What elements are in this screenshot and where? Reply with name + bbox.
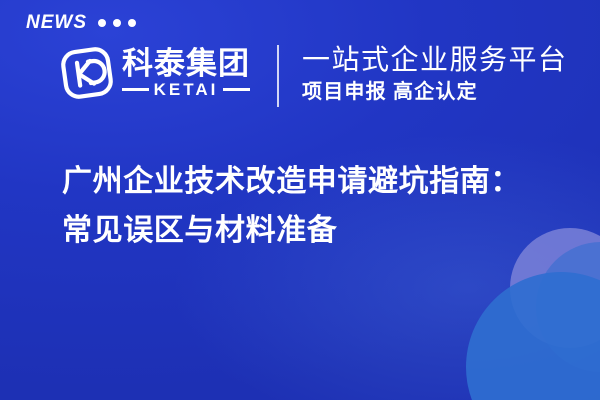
brand-rule-right: [223, 88, 250, 91]
brand-name-cn: 科泰集团: [122, 48, 250, 81]
news-label: NEWS: [26, 13, 87, 32]
page-title-line-2: 常见误区与材料准备: [62, 207, 560, 256]
page-title: 广州企业技术改造申请避坑指南： 常见误区与材料准备: [62, 158, 560, 255]
page-title-line-1: 广州企业技术改造申请避坑指南：: [62, 158, 560, 207]
news-banner: NEWS 科泰集团 KETAI: [0, 0, 600, 400]
brand-divider: [277, 45, 279, 107]
news-tag: NEWS: [26, 13, 136, 32]
brand-name-en-row: KETAI: [122, 81, 250, 98]
brand-rule-left: [122, 88, 149, 91]
brand-wordmark: 科泰集团 KETAI: [122, 48, 250, 99]
brand-lockup: 科泰集团 KETAI: [58, 44, 250, 102]
news-dots-icon: [98, 18, 136, 27]
tagline-block: 一站式企业服务平台 项目申报 高企认定: [302, 44, 568, 103]
news-dot: [98, 19, 106, 27]
ketai-diamond-kd-monogram-icon: [58, 44, 116, 102]
brand-name-en: KETAI: [154, 81, 219, 98]
tagline-main: 一站式企业服务平台: [302, 44, 568, 76]
news-dot: [128, 19, 136, 27]
news-dot: [113, 19, 121, 27]
tagline-sub: 项目申报 高企认定: [302, 81, 568, 103]
